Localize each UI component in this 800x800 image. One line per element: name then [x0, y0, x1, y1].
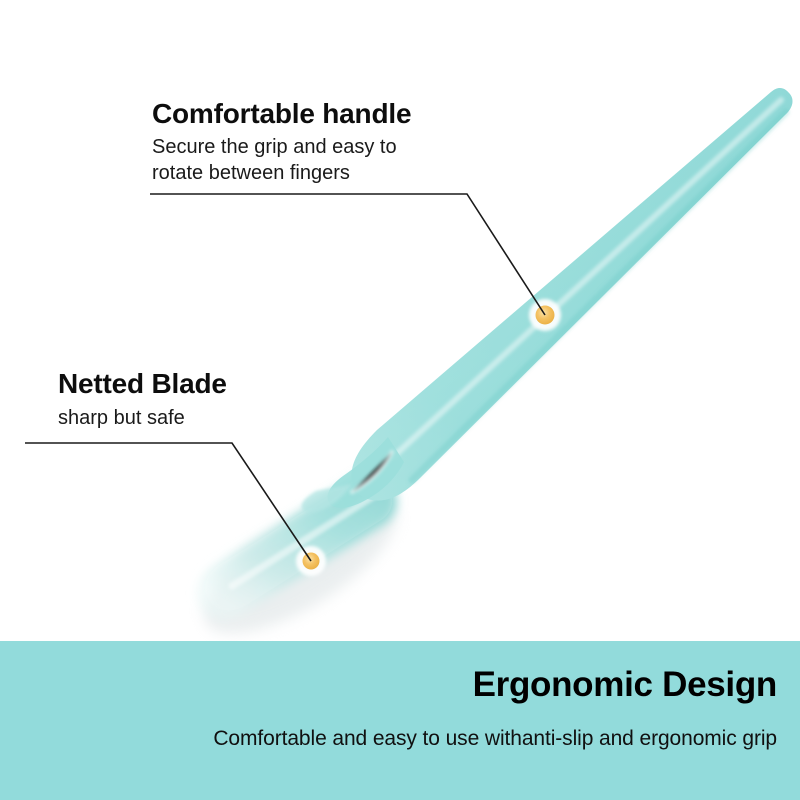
callout-title-comfortable-handle: Comfortable handle: [152, 97, 411, 130]
banner-subtitle: Comfortable and easy to use withanti-sli…: [213, 727, 777, 751]
handle-accent-dot: [529, 299, 561, 331]
bottom-banner: Ergonomic Design Comfortable and easy to…: [0, 641, 800, 800]
callout-description-comfortable-handle: Secure the grip and easy to rotate betwe…: [152, 135, 411, 186]
razor-handle: [351, 88, 792, 501]
callout-comfortable-handle: Comfortable handle Secure the grip and e…: [152, 97, 411, 186]
blade-accent-dot: [296, 546, 326, 576]
product-feature-infographic: Comfortable handle Secure the grip and e…: [0, 0, 800, 800]
callout-title-netted-blade: Netted Blade: [58, 367, 227, 400]
callout-description-netted-blade: sharp but safe: [58, 406, 227, 432]
banner-title: Ergonomic Design: [473, 665, 777, 705]
callout-netted-blade: Netted Blade sharp but safe: [58, 367, 227, 432]
